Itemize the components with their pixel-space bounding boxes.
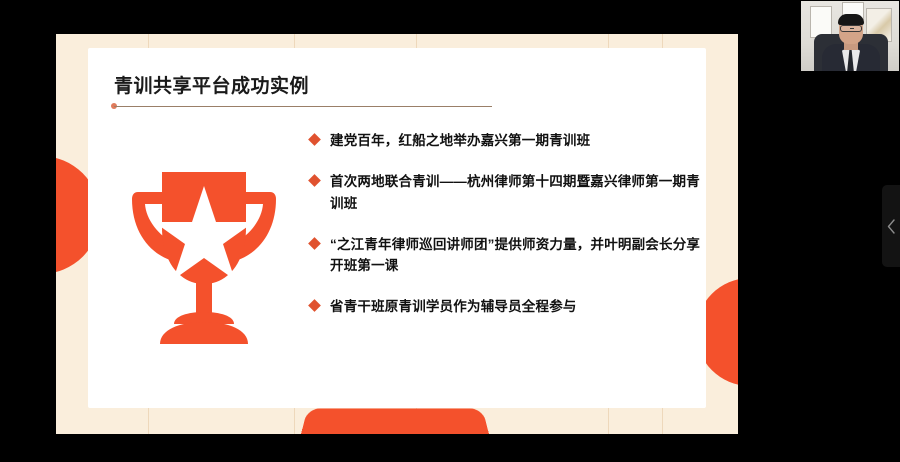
diamond-bullet-icon [308, 299, 321, 312]
list-item-text: 建党百年，红船之地举办嘉兴第一期青训班 [330, 130, 590, 152]
bullet-list: 建党百年，红船之地举办嘉兴第一期青训班 首次两地联合青训——杭州律师第十四期暨嘉… [310, 130, 702, 337]
list-item: 首次两地联合青训——杭州律师第十四期暨嘉兴律师第一期青训班 [310, 171, 702, 215]
slide-content-card: 青训共享平台成功实例 [88, 48, 706, 408]
list-item-text: 省青干班原青训学员作为辅导员全程参与 [330, 296, 577, 318]
shared-slide[interactable]: 青训共享平台成功实例 [56, 34, 738, 434]
list-item-text: “之江青年律师巡回讲师团”提供师资力量，并叶明副会长分享开班第一课 [330, 234, 702, 278]
list-item: 建党百年，红船之地举办嘉兴第一期青训班 [310, 130, 702, 152]
title-underline-rule [114, 106, 492, 107]
decor-shape-bottom [300, 408, 490, 434]
list-item: 省青干班原青训学员作为辅导员全程参与 [310, 296, 702, 318]
diamond-bullet-icon [308, 133, 321, 146]
diamond-bullet-icon [308, 237, 321, 250]
speaker-video-tile[interactable] [800, 0, 900, 72]
list-item-text: 首次两地联合青训——杭州律师第十四期暨嘉兴律师第一期青训班 [330, 171, 702, 215]
screen-root: 青训共享平台成功实例 [0, 0, 900, 462]
diamond-bullet-icon [308, 174, 321, 187]
trophy-star-icon [124, 152, 284, 348]
chevron-left-icon [887, 219, 896, 234]
slide-title: 青训共享平台成功实例 [114, 71, 309, 98]
glasses-icon [840, 25, 862, 32]
list-item: “之江青年律师巡回讲师团”提供师资力量，并叶明副会长分享开班第一课 [310, 234, 702, 278]
collapse-panel-button[interactable] [882, 185, 900, 267]
speaker-hair [838, 14, 864, 25]
